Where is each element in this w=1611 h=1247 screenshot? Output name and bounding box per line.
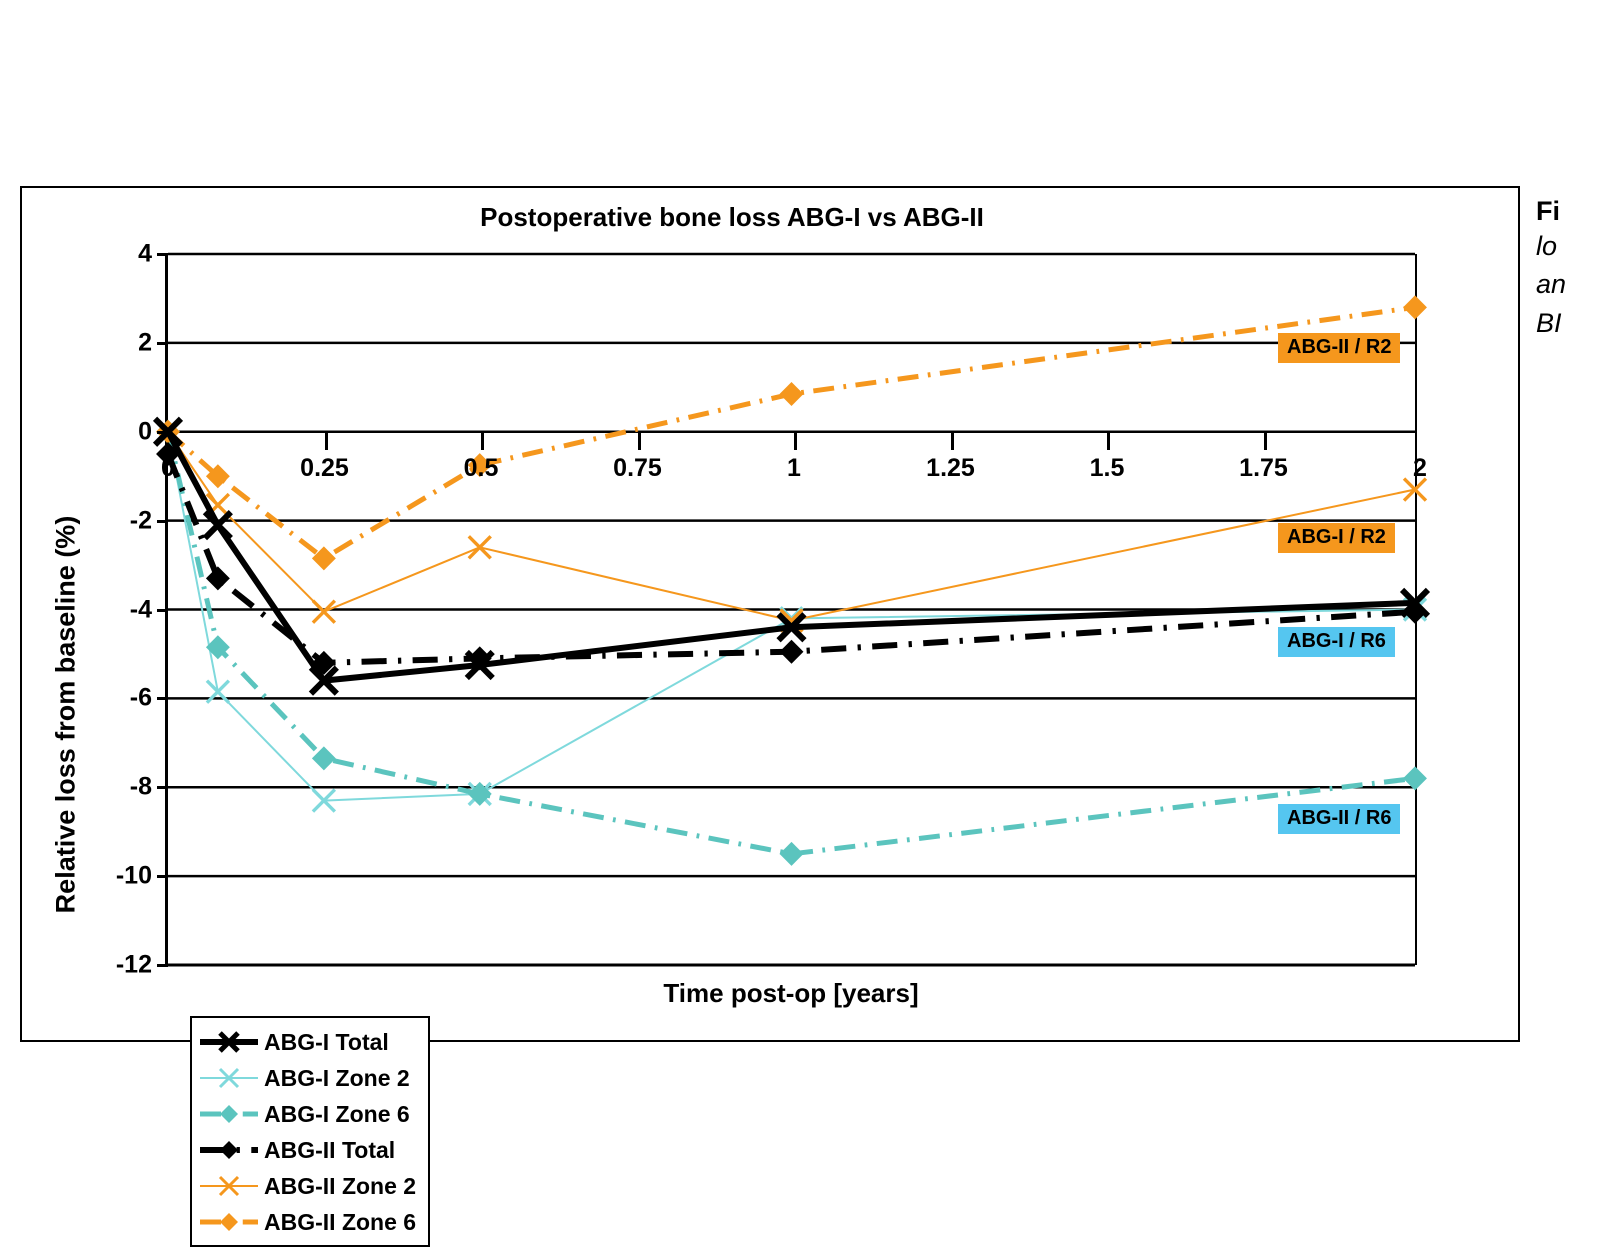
marker-diamond [780, 842, 804, 866]
legend-label: ABG-I Total [260, 1029, 389, 1056]
legend-item-abg-i-total[interactable]: ABG-I Total [198, 1024, 424, 1060]
legend-item-abg-ii-total[interactable]: ABG-II Total [198, 1132, 424, 1168]
chart-canvas [168, 254, 1415, 965]
y-tick-label--4: -4 [130, 595, 152, 624]
caption-line-1: Fi [1536, 196, 1611, 227]
legend-item-abg-i-zone-6[interactable]: ABG-I Zone 6 [198, 1096, 424, 1132]
legend-label: ABG-II Zone 6 [260, 1209, 416, 1236]
y-tick-mark--2 [157, 520, 168, 523]
caption-line-2: lo [1536, 227, 1611, 265]
callout-abg-ii-r2: ABG-II / R2 [1278, 333, 1400, 363]
x-tick-label-2: 2 [1413, 454, 1427, 483]
callout-abg-ii-r6: ABG-II / R6 [1278, 804, 1400, 834]
series-abg-ii-zone-2 [157, 421, 1426, 632]
legend-key-x-icon [198, 1031, 260, 1053]
y-tick-label--12: -12 [116, 951, 152, 980]
x-tick-label-1: 1 [787, 454, 801, 483]
chart-legend: ABG-I TotalABG-I Zone 2ABG-I Zone 6ABG-I… [190, 1016, 430, 1247]
legend-key-diamond-icon [198, 1103, 260, 1125]
y-tick-mark-0 [157, 431, 168, 434]
x-tick-label-0.5: 0.5 [464, 454, 499, 483]
callout-abg-i-r6: ABG-I / R6 [1278, 627, 1395, 657]
x-tick-label-1.5: 1.5 [1090, 454, 1125, 483]
x-tick-mark-1.25 [951, 432, 954, 450]
caption-line-4: BI [1536, 304, 1611, 342]
marker-diamond [312, 746, 336, 770]
marker-diamond [780, 382, 804, 406]
y-tick-label--6: -6 [130, 684, 152, 713]
x-tick-mark-0.25 [325, 432, 328, 450]
y-tick-mark--12 [157, 964, 168, 967]
marker-diamond [1403, 295, 1427, 319]
legend-key-x-icon [198, 1067, 260, 1089]
y-axis-title: Relative loss from baseline (%) [46, 374, 86, 1054]
chart-title: Postoperative bone loss ABG-I vs ABG-II [22, 202, 1442, 233]
legend-label: ABG-I Zone 6 [260, 1101, 410, 1128]
y-tick-mark-4 [157, 253, 168, 256]
y-tick-label--2: -2 [130, 506, 152, 535]
callout-abg-i-r2: ABG-I / R2 [1278, 523, 1395, 553]
y-tick-mark-2 [157, 342, 168, 345]
y-tick-mark--4 [157, 609, 168, 612]
legend-item-abg-ii-zone-2[interactable]: ABG-II Zone 2 [198, 1168, 424, 1204]
x-tick-mark-1 [794, 432, 797, 450]
marker-diamond [780, 640, 804, 664]
x-tick-mark-1.5 [1107, 432, 1110, 450]
plot-area: 420-2-4-6-8-10-12 00.250.50.7511.251.51.… [165, 254, 1417, 965]
y-tick-label-2: 2 [138, 328, 152, 357]
legend-label: ABG-I Zone 2 [260, 1065, 410, 1092]
figure-caption: Fi lo an BI [1536, 196, 1611, 342]
legend-key-x-icon [198, 1175, 260, 1197]
y-tick-mark--8 [157, 786, 168, 789]
legend-label: ABG-II Zone 2 [260, 1173, 416, 1200]
legend-item-abg-i-zone-2[interactable]: ABG-I Zone 2 [198, 1060, 424, 1096]
x-tick-label-0: 0 [161, 454, 175, 483]
figure-frame: Postoperative bone loss ABG-I vs ABG-II … [20, 186, 1520, 1042]
y-tick-label-4: 4 [138, 240, 152, 269]
y-tick-label--10: -10 [116, 862, 152, 891]
marker-diamond [206, 566, 230, 590]
x-tick-mark-0.5 [481, 432, 484, 450]
x-tick-label-0.25: 0.25 [300, 454, 349, 483]
legend-item-abg-ii-zone-6[interactable]: ABG-II Zone 6 [198, 1204, 424, 1240]
y-tick-mark--6 [157, 697, 168, 700]
x-tick-label-0.75: 0.75 [613, 454, 662, 483]
y-axis-title-text: Relative loss from baseline (%) [51, 515, 82, 913]
legend-key-diamond-icon [198, 1211, 260, 1233]
x-axis-title: Time post-op [years] [165, 978, 1417, 1009]
y-tick-label-0: 0 [138, 417, 152, 446]
y-tick-label--8: -8 [130, 773, 152, 802]
caption-line-3: an [1536, 265, 1611, 303]
x-tick-label-1.25: 1.25 [926, 454, 975, 483]
y-tick-mark--10 [157, 875, 168, 878]
legend-label: ABG-II Total [260, 1137, 395, 1164]
x-tick-mark-1.75 [1264, 432, 1267, 450]
x-tick-label-1.75: 1.75 [1239, 454, 1288, 483]
legend-key-diamond-icon [198, 1139, 260, 1161]
x-tick-mark-0.75 [638, 432, 641, 450]
